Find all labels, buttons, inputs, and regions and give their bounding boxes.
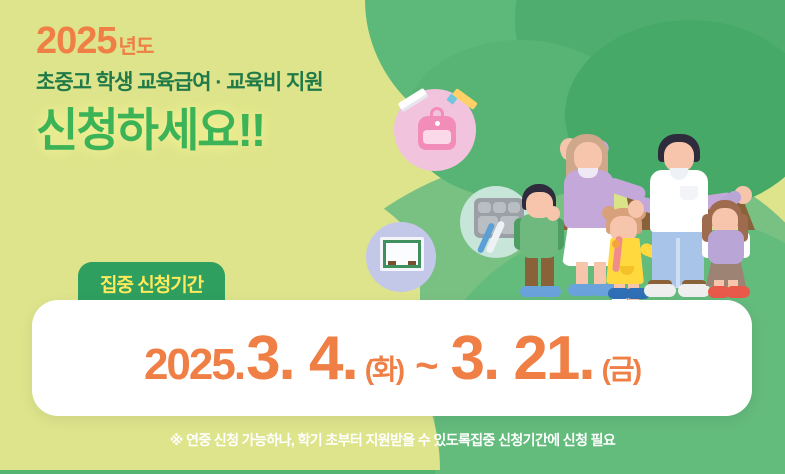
backpack-buckle-icon (435, 121, 440, 126)
family-illustration (502, 128, 785, 300)
date-start: 3. 4. (246, 323, 357, 394)
date-separator: ~ (415, 344, 436, 389)
girl-braids-shoe (726, 286, 750, 298)
boy-hand (546, 206, 560, 221)
whiteboard-leg-icon (408, 261, 416, 265)
call-to-action-title: 신청하세요!! (36, 107, 456, 153)
tray-compartment (478, 202, 491, 213)
year-line: 2025 년도 (36, 22, 456, 60)
whiteboard-leg-icon (388, 261, 396, 265)
education-subsidy-banner: 2025 년도 초중고 학생 교육급여 · 교육비 지원 신청하세요!! (0, 0, 785, 474)
father-pants-seam (676, 238, 680, 288)
father-shirt-pocket (680, 186, 698, 200)
father-hand (628, 200, 644, 218)
date-range: 2025. 3. 4. (화) ~ 3. 21. (금) (144, 323, 640, 394)
year-number: 2025 (36, 22, 117, 60)
date-year: 2025. (144, 340, 244, 390)
subtitle: 초중고 학생 교육급여 · 교육비 지원 (36, 72, 456, 93)
girl-braids-top (708, 230, 744, 264)
boy-shoe (538, 286, 561, 297)
date-end-dayofweek: (금) (602, 348, 640, 388)
year-suffix: 년도 (119, 37, 154, 57)
date-start-dayofweek: (화) (365, 348, 403, 388)
backpack-flap-icon (423, 130, 451, 144)
father-shoe (644, 284, 676, 297)
date-card: 2025. 3. 4. (화) ~ 3. 21. (금) (32, 300, 752, 416)
headline-block: 2025 년도 초중고 학생 교육급여 · 교육비 지원 신청하세요!! (36, 22, 456, 153)
date-end: 3. 21. (450, 323, 593, 394)
father-shoe (678, 284, 710, 297)
girl-yellow-button (612, 240, 620, 248)
footnote-text: ※ 연중 신청 가능하나, 학기 초부터 지원받을 수 있도록집중 신청기간에 … (0, 430, 785, 450)
